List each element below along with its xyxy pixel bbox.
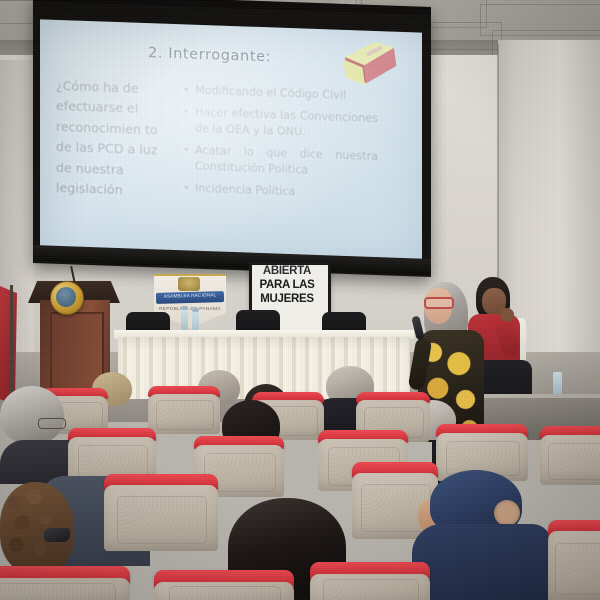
seat xyxy=(148,394,220,434)
book-icon xyxy=(338,38,398,90)
slide-bullet: Incidencia Política xyxy=(195,181,378,204)
wall-sign-text: ABIERTA PARA LAS MUJERES xyxy=(251,264,323,306)
seat xyxy=(310,574,430,600)
audience-glasses xyxy=(38,418,66,429)
flag xyxy=(0,286,17,404)
pennant-crest-icon xyxy=(178,277,200,291)
seat xyxy=(540,435,600,485)
water-bottle-cap xyxy=(192,308,199,312)
pennant-bottom-text: REPÚBLICA DE PANAMÁ xyxy=(156,307,224,312)
presentation-slide: 2. Interrogante: ¿Cómo ha de efectuarse … xyxy=(40,19,422,262)
audience-sunglasses xyxy=(44,528,70,542)
sign-line-1: ABIERTA xyxy=(251,264,323,278)
slide-left-column: ¿Cómo ha de efectuarse el reconocimien t… xyxy=(56,76,166,202)
sign-line-3: MUJERES xyxy=(251,292,323,306)
auditorium-photo: 2. Interrogante: ¿Cómo ha de efectuarse … xyxy=(0,0,600,600)
water-bottle xyxy=(181,310,188,332)
seat xyxy=(154,582,294,600)
podium-seal-emblem xyxy=(56,287,76,307)
slide-bullet: Acatar lo que dice nuestra Constitución … xyxy=(195,142,378,182)
sign-line-2: PARA LAS xyxy=(251,278,323,292)
interpreter-hand xyxy=(500,308,514,322)
audience-torso xyxy=(412,524,552,600)
slide-title: 2. Interrogante: xyxy=(148,45,338,68)
slide-bullet: Hacer efectiva las Convenciones de la OE… xyxy=(195,104,378,144)
speaker-glasses xyxy=(424,297,454,309)
seat xyxy=(548,531,600,600)
slide-bullet-list: Modificando el Código Civil Hacer efecti… xyxy=(182,82,378,208)
seat xyxy=(104,485,218,551)
cap-opening xyxy=(494,500,520,526)
seat xyxy=(0,578,130,600)
water-bottle-cap xyxy=(181,306,188,310)
audience-head-gray-man xyxy=(0,386,64,444)
